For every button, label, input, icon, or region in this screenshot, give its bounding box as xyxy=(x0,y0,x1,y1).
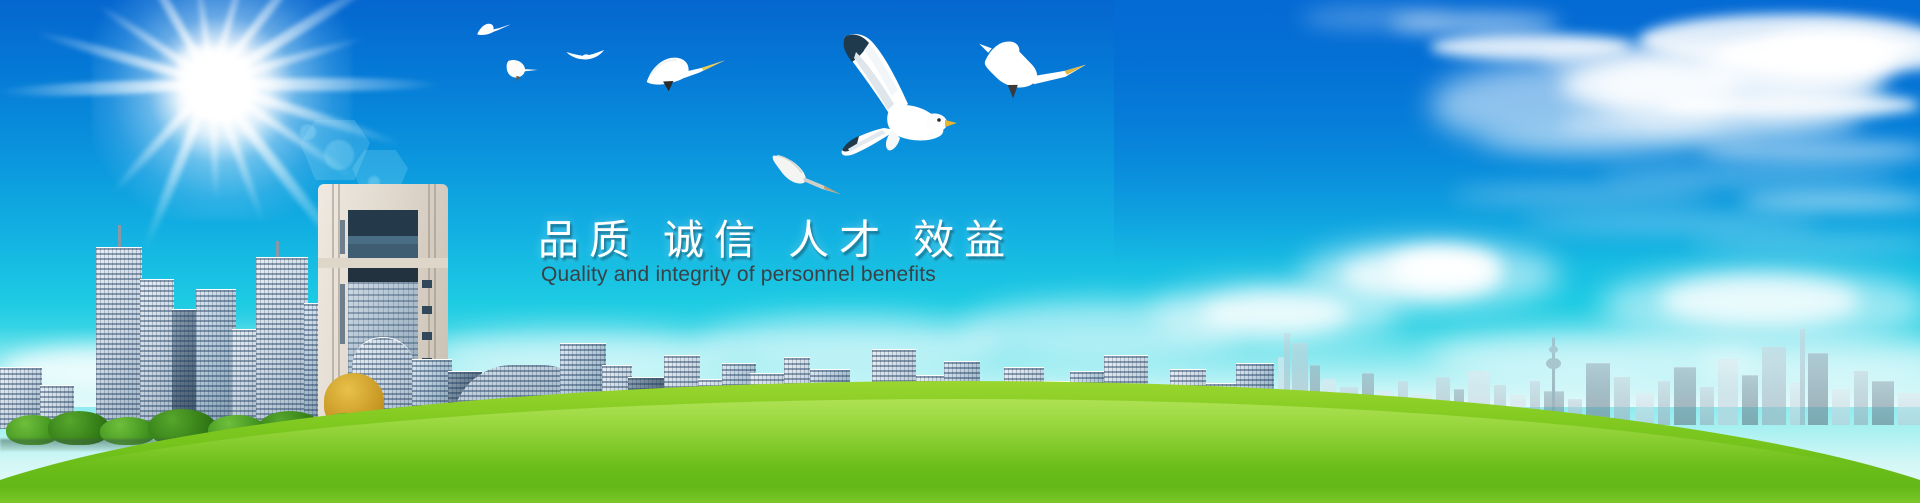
sun-core xyxy=(178,46,250,118)
bird-seagull-main xyxy=(826,30,956,166)
grass-foreground-band xyxy=(0,487,1920,503)
bird-egret-small-3 xyxy=(565,46,608,67)
bird-egret-large xyxy=(977,28,1093,105)
hero-banner: 品质 诚信 人才 效益 Quality and integrity of per… xyxy=(0,0,1920,503)
